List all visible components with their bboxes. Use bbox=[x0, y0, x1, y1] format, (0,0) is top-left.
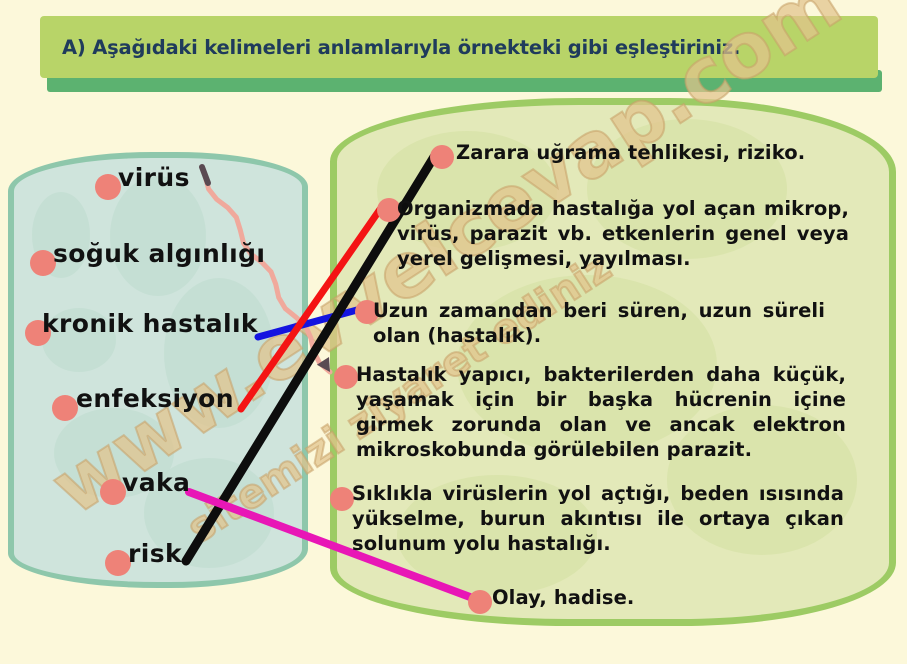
word-label: soğuk algınlığı bbox=[53, 239, 265, 268]
definition-dot[interactable] bbox=[334, 365, 358, 389]
example-virus-link bbox=[205, 176, 330, 372]
definition-text: Uzun zamandan beri süren, uzun süreli ol… bbox=[373, 298, 825, 348]
definition-text: Hastalık yapıcı, bakterilerden daha küçü… bbox=[356, 362, 846, 462]
word-label: kronik hastalık bbox=[42, 309, 258, 338]
word-label: enfeksiyon bbox=[76, 384, 234, 413]
word-label: risk bbox=[128, 539, 182, 568]
definition-dot[interactable] bbox=[330, 487, 354, 511]
definition-dot[interactable] bbox=[468, 590, 492, 614]
worksheet-page: A) Aşağıdaki kelimeleri anlamlarıyla örn… bbox=[0, 0, 907, 664]
word-label: vaka bbox=[122, 468, 190, 497]
word-label: virüs bbox=[118, 163, 190, 192]
word-dot[interactable] bbox=[52, 395, 78, 421]
example-virus-link-start-tick bbox=[202, 167, 208, 183]
definition-text: Zarara uğrama tehlikesi, riziko. bbox=[456, 140, 876, 165]
definition-text: Olay, hadise. bbox=[492, 585, 792, 610]
definition-text: Sıklıkla virüslerin yol açtığı, beden ıs… bbox=[352, 481, 844, 556]
definition-text: Organizmada hastalığa yol açan mikrop, v… bbox=[397, 196, 849, 271]
definition-dot[interactable] bbox=[430, 145, 454, 169]
